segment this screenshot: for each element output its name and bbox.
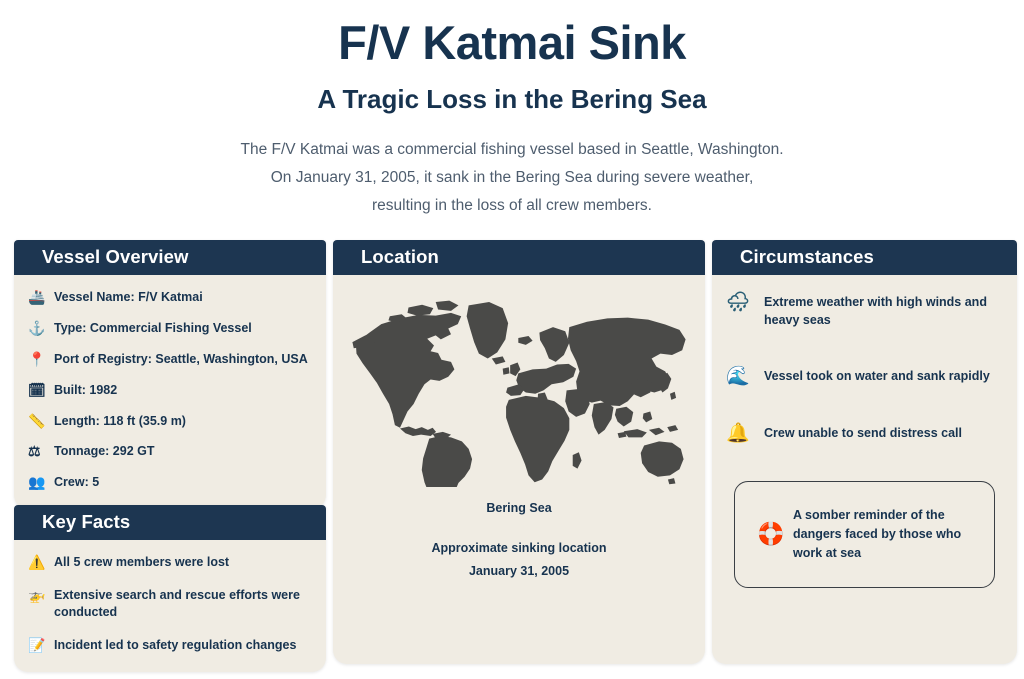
list-item-label: Extreme weather with high winds and heav…	[764, 293, 1003, 329]
location-pin-icon: 📍	[28, 351, 52, 368]
list-item-label: Vessel Name: F/V Katmai	[54, 289, 203, 306]
list-item-label: Extensive search and rescue efforts were…	[54, 587, 312, 621]
bell-icon: 🔔	[726, 424, 760, 443]
map-caption-date: January 31, 2005	[333, 564, 705, 578]
right-column: Circumstances 🌧 Extreme weather with hig…	[712, 240, 1017, 664]
circumstances-body: 🌧 Extreme weather with high winds and he…	[712, 275, 1017, 604]
list-item: 📍 Port of Registry: Seattle, Washington,…	[28, 351, 312, 368]
map-caption-sea: Bering Sea	[333, 501, 705, 515]
people-icon: 👥	[28, 474, 52, 491]
list-item: 🔔 Crew unable to send distress call	[726, 424, 1003, 443]
vessel-overview-body: 🚢 Vessel Name: F/V Katmai ⚓ Type: Commer…	[14, 275, 326, 509]
key-facts-list: ⚠️ All 5 crew members were lost 🚁 Extens…	[28, 554, 312, 654]
panel-columns: Vessel Overview 🚢 Vessel Name: F/V Katma…	[0, 240, 1024, 664]
somber-reminder-callout: 🛟 A somber reminder of the dangers faced…	[734, 481, 995, 587]
key-facts-panel: Key Facts ⚠️ All 5 crew members were los…	[14, 505, 326, 672]
list-item-label: Tonnage: 292 GT	[54, 443, 154, 460]
vessel-overview-panel: Vessel Overview 🚢 Vessel Name: F/V Katma…	[14, 240, 326, 509]
location-panel: Location	[333, 240, 705, 664]
world-map-svg	[349, 287, 689, 487]
location-heading: Location	[333, 240, 705, 275]
intro-line-1: The F/V Katmai was a commercial fishing …	[132, 136, 892, 164]
vessel-overview-heading: Vessel Overview	[14, 240, 326, 275]
somber-reminder-text: A somber reminder of the dangers faced b…	[793, 506, 980, 562]
wave-icon: 🌊	[726, 367, 760, 386]
page-header: F/V Katmai Sink A Tragic Loss in the Ber…	[0, 0, 1024, 221]
warning-triangle-icon: ⚠️	[28, 554, 52, 571]
list-item-label: Type: Commercial Fishing Vessel	[54, 320, 252, 337]
map-caption-location: Approximate sinking location	[333, 541, 705, 555]
world-map	[333, 275, 705, 487]
list-item-label: Length: 118 ft (35.9 m)	[54, 413, 186, 430]
list-item: ⚓ Type: Commercial Fishing Vessel	[28, 320, 312, 337]
vessel-overview-list: 🚢 Vessel Name: F/V Katmai ⚓ Type: Commer…	[28, 289, 312, 491]
ship-icon: 🚢	[28, 289, 52, 306]
center-column: Location	[333, 240, 705, 664]
list-item-label: Port of Registry: Seattle, Washington, U…	[54, 351, 308, 368]
list-item-label: Incident led to safety regulation change…	[54, 637, 296, 654]
circumstances-list: 🌧 Extreme weather with high winds and he…	[726, 289, 1003, 443]
list-item: 🚢 Vessel Name: F/V Katmai	[28, 289, 312, 306]
list-item-label: Crew unable to send distress call	[764, 424, 962, 442]
rain-cloud-icon: 🌧	[726, 293, 760, 312]
page-subtitle: A Tragic Loss in the Bering Sea	[0, 85, 1024, 114]
list-item: 📏 Length: 118 ft (35.9 m)	[28, 413, 312, 430]
memo-icon: 📝	[28, 637, 52, 654]
anchor-icon: ⚓	[28, 320, 52, 337]
list-item-label: All 5 crew members were lost	[54, 554, 229, 571]
list-item: 📝 Incident led to safety regulation chan…	[28, 637, 312, 654]
list-item: ⚠️ All 5 crew members were lost	[28, 554, 312, 571]
intro-line-2: On January 31, 2005, it sank in the Beri…	[132, 164, 892, 192]
key-facts-body: ⚠️ All 5 crew members were lost 🚁 Extens…	[14, 540, 326, 672]
circumstances-panel: Circumstances 🌧 Extreme weather with hig…	[712, 240, 1017, 664]
key-facts-heading: Key Facts	[14, 505, 326, 540]
scale-icon: ⚖	[28, 443, 52, 460]
list-item-label: Crew: 5	[54, 474, 99, 491]
calendar-icon: 🗓	[28, 382, 52, 399]
list-item: 👥 Crew: 5	[28, 474, 312, 491]
intro-line-3: resulting in the loss of all crew member…	[132, 192, 892, 220]
list-item: 🌊 Vessel took on water and sank rapidly	[726, 367, 1003, 386]
ruler-icon: 📏	[28, 413, 52, 430]
page-title: F/V Katmai Sink	[0, 18, 1024, 67]
life-ring-icon: 🛟	[749, 523, 793, 545]
intro-paragraph: The F/V Katmai was a commercial fishing …	[132, 136, 892, 221]
left-column: Vessel Overview 🚢 Vessel Name: F/V Katma…	[14, 240, 326, 664]
list-item-label: Built: 1982	[54, 382, 117, 399]
list-item: 🗓 Built: 1982	[28, 382, 312, 399]
list-item: 🌧 Extreme weather with high winds and he…	[726, 293, 1003, 329]
list-item: ⚖ Tonnage: 292 GT	[28, 443, 312, 460]
list-item-label: Vessel took on water and sank rapidly	[764, 367, 990, 385]
circumstances-heading: Circumstances	[712, 240, 1017, 275]
helicopter-icon: 🚁	[28, 587, 52, 604]
list-item: 🚁 Extensive search and rescue efforts we…	[28, 587, 312, 621]
